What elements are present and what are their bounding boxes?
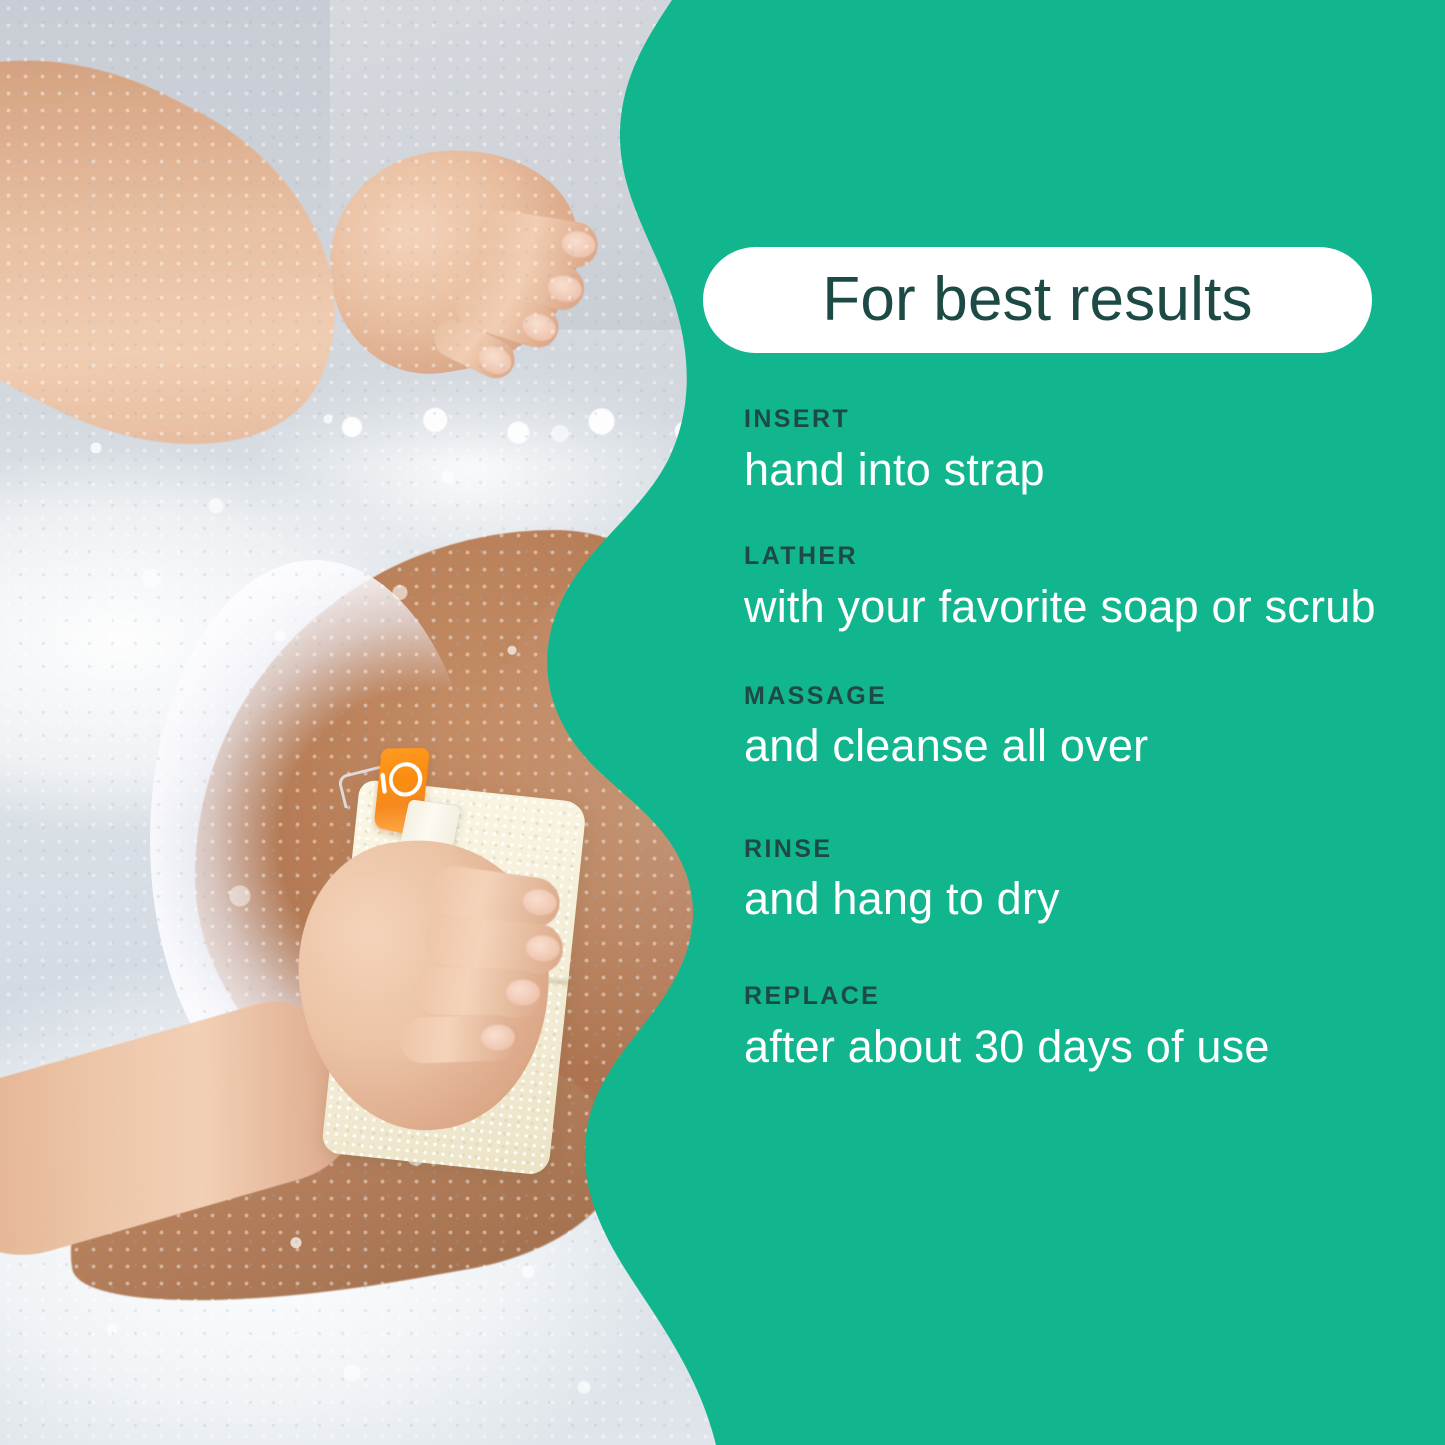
step-label: RINSE [744, 836, 1384, 864]
step-label: LATHER [744, 543, 1384, 571]
brand-circle-logo-icon [387, 759, 424, 799]
step-text: and cleanse all over [744, 718, 1384, 774]
step-lather: LATHER with your favorite soap or scrub [744, 543, 1384, 634]
fingernail [525, 934, 561, 963]
step-rinse: RINSE and hang to dry [744, 836, 1384, 927]
finger [414, 966, 544, 1018]
step-text: after about 30 days of use [744, 1019, 1384, 1075]
title-pill: For best results [703, 247, 1372, 353]
step-text: with your favorite soap or scrub [744, 579, 1384, 635]
step-replace: REPLACE after about 30 days of use [744, 983, 1384, 1074]
fingernail [481, 1024, 516, 1051]
step-label: INSERT [744, 406, 1384, 434]
fingernail [521, 887, 558, 917]
step-text: and hang to dry [744, 871, 1384, 927]
steps-list: INSERT hand into strap LATHER with your … [744, 406, 1384, 1074]
fingernail [506, 979, 541, 1006]
step-label: MASSAGE [744, 683, 1384, 711]
step-massage: MASSAGE and cleanse all over [744, 683, 1384, 774]
step-insert: INSERT hand into strap [744, 406, 1384, 497]
product-instructions-card: For best results INSERT hand into strap … [0, 0, 1445, 1445]
step-text: hand into strap [744, 442, 1384, 498]
page-title: For best results [822, 269, 1252, 331]
step-label: REPLACE [744, 983, 1384, 1011]
finger [399, 1014, 519, 1064]
